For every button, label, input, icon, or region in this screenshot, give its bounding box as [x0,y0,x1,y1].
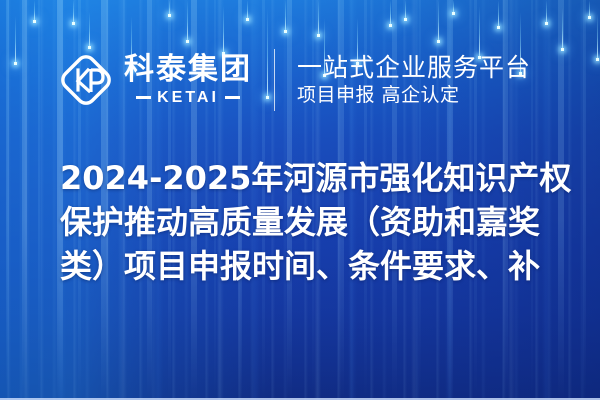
brand-name-cn: 科泰集团 [124,55,252,85]
wordmark-rule-left [136,96,151,99]
tagline-primary: 一站式企业服务平台 [297,54,531,82]
tagline-block: 一站式企业服务平台 项目申报 高企认定 [297,54,531,107]
wordmark-rule-right [225,96,240,99]
kp-monogram-icon [58,52,114,108]
headline-line-1: 2024-2025年河源市强化知识产权 [60,156,560,200]
headline-line-3: 类）项目申报时间、条件要求、补 [60,244,560,288]
tagline-secondary: 项目申报 高企认定 [297,85,531,107]
promo-banner: 科泰集团 KETAI 一站式企业服务平台 项目申报 高企认定 2024-2025… [0,0,600,400]
brand-name-en-row: KETAI [124,90,252,106]
banner-header: 科泰集团 KETAI 一站式企业服务平台 项目申报 高企认定 [0,40,600,120]
brand-wordmark: 科泰集团 KETAI [124,55,252,106]
brand-name-en: KETAI [157,90,219,106]
header-divider [274,49,275,111]
page-title: 2024-2025年河源市强化知识产权 保护推动高质量发展（资助和嘉奖 类）项目… [60,156,560,288]
brand-logo[interactable]: 科泰集团 KETAI [58,52,252,108]
headline-line-2: 保护推动高质量发展（资助和嘉奖 [60,200,560,244]
